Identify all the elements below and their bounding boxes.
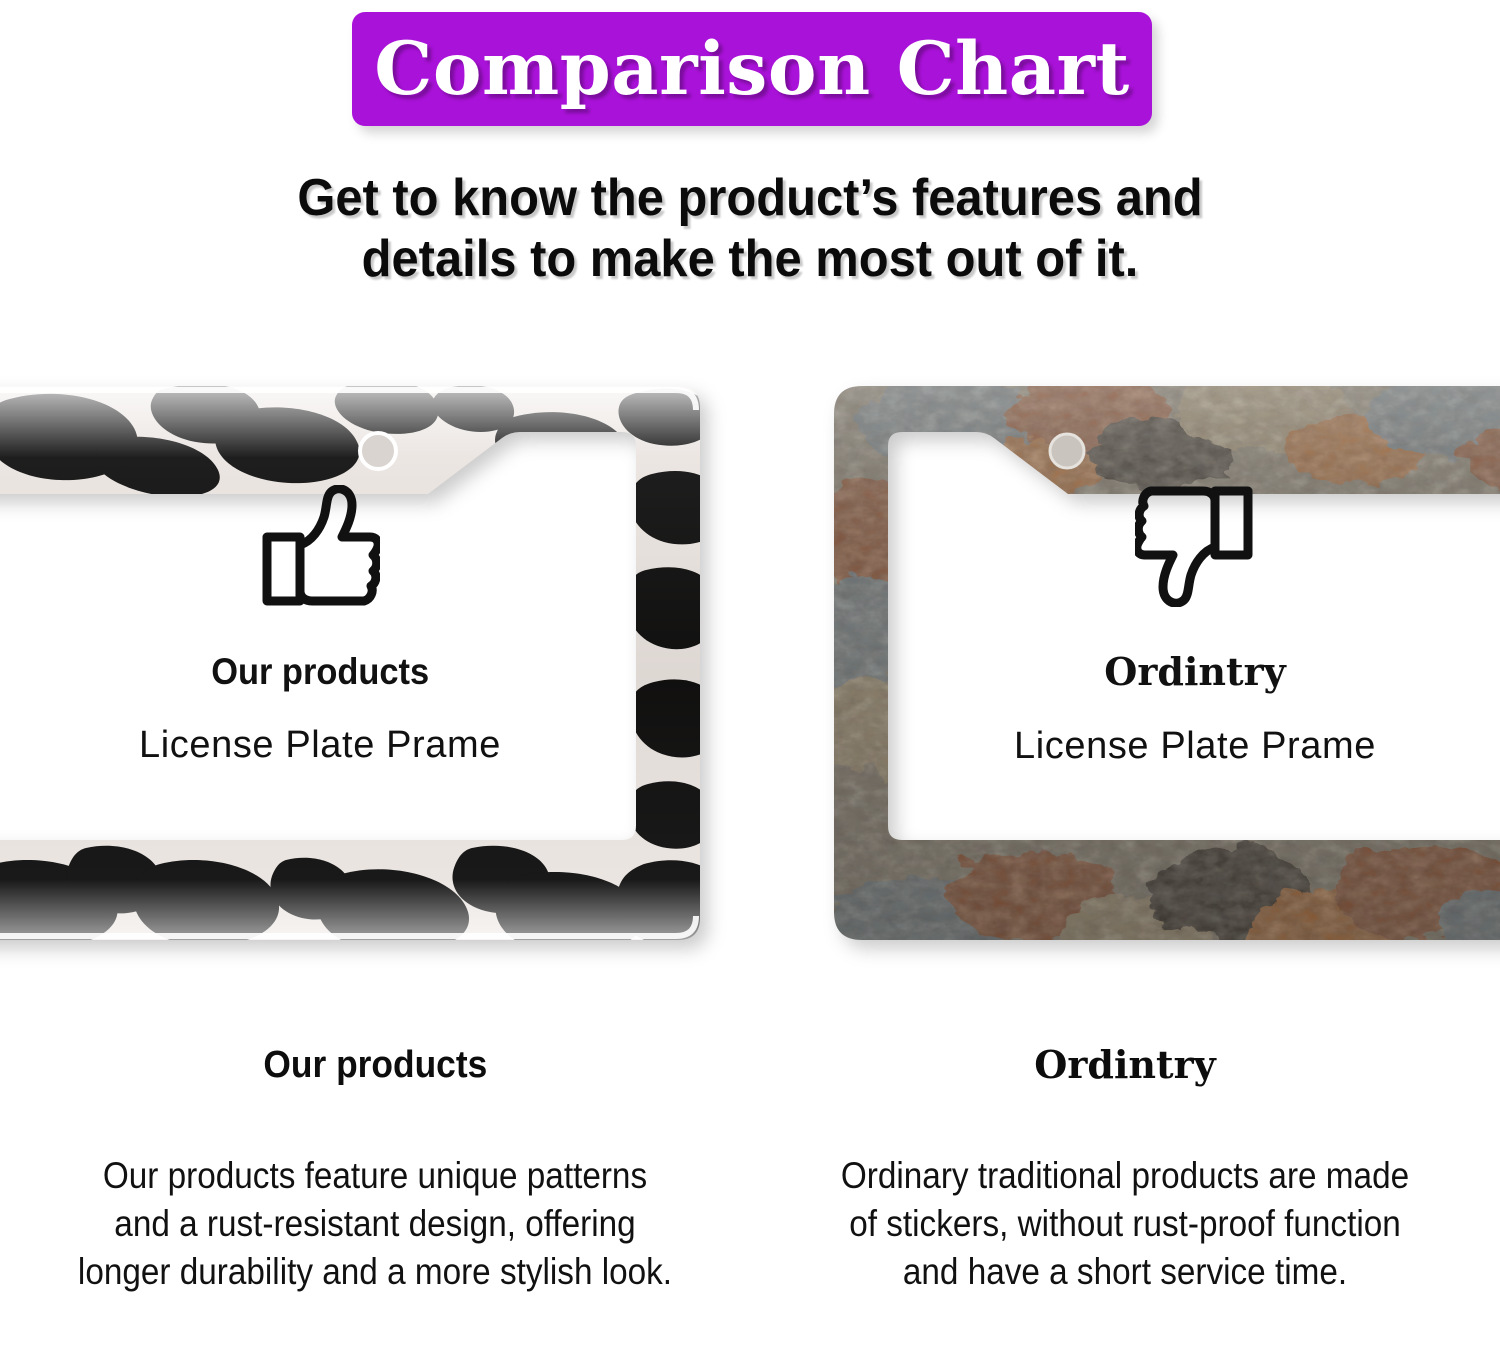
thumbs-down-icon bbox=[1135, 485, 1255, 607]
our-products-plate-content: Our products License Plate Prame bbox=[10, 485, 630, 764]
plate-brand-line: Ordintry bbox=[895, 653, 1495, 691]
subtitle-line-1: Get to know the product’s features and bbox=[297, 169, 1202, 227]
our-products-heading-wrap: Our products bbox=[44, 1018, 706, 1084]
mounting-hole bbox=[360, 433, 396, 469]
subtitle-line-2: details to make the most out of it. bbox=[45, 229, 1455, 290]
comparison-descriptions: Our products Our products feature unique… bbox=[0, 1018, 1500, 1364]
plate-brand-line: Our products bbox=[10, 653, 630, 690]
ordintry-heading-wrap: Ordintry bbox=[794, 1018, 1456, 1084]
ordintry-body: Ordinary traditional products are made o… bbox=[827, 1152, 1423, 1296]
plate-brand-label: Our products bbox=[211, 653, 429, 690]
comparison-chart-banner: Comparison Chart bbox=[352, 12, 1152, 126]
plate-brand-label: Ordintry bbox=[1104, 653, 1285, 691]
description-column-our-products: Our products Our products feature unique… bbox=[0, 1018, 750, 1364]
plate-subtitle: License Plate Prame bbox=[10, 726, 630, 764]
our-products-heading: Our products bbox=[263, 1046, 487, 1084]
plate-subtitle: License Plate Prame bbox=[895, 727, 1495, 765]
page-title: Comparison Chart bbox=[374, 26, 1130, 112]
page-subtitle: Get to know the product’s features and d… bbox=[45, 168, 1455, 291]
our-products-body: Our products feature unique patterns and… bbox=[77, 1152, 673, 1296]
mounting-hole bbox=[1050, 434, 1084, 468]
thumbs-up-icon bbox=[260, 485, 380, 607]
description-column-ordintry: Ordintry Ordinary traditional products a… bbox=[750, 1018, 1500, 1364]
product-frames-stage: Our products License Plate Prame Ordintr… bbox=[0, 370, 1500, 970]
ordintry-heading: Ordintry bbox=[1034, 1046, 1215, 1084]
ordintry-plate-content: Ordintry License Plate Prame bbox=[895, 485, 1495, 765]
